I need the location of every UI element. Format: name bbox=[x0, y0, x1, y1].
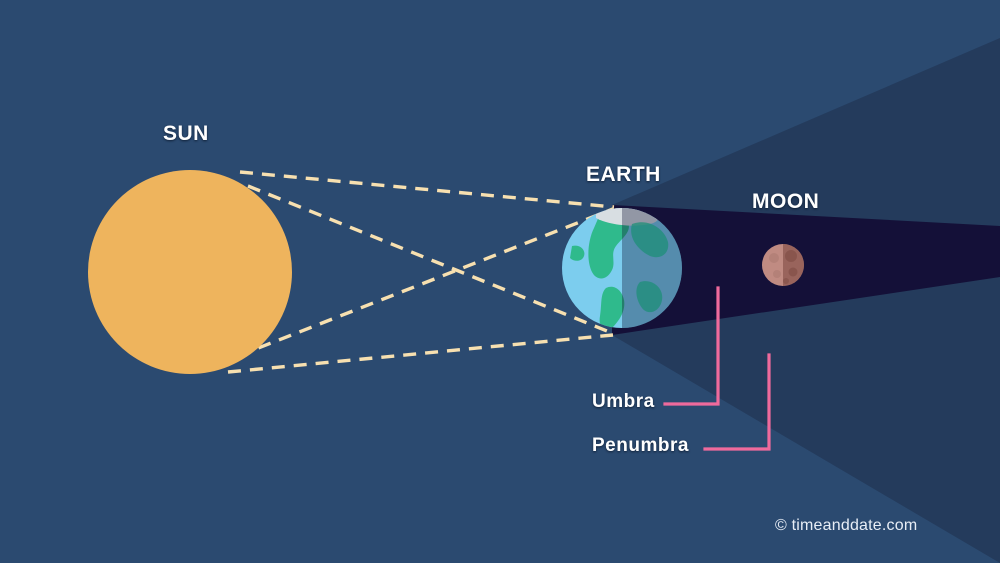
moon-label: MOON bbox=[752, 190, 819, 214]
umbra-label: Umbra bbox=[592, 391, 655, 413]
sun-body bbox=[88, 170, 292, 374]
earth-label: EARTH bbox=[586, 163, 661, 187]
lunar-eclipse-diagram: SUN EARTH MOON Umbra Penumbra © timeandd… bbox=[0, 0, 1000, 563]
penumbra-label: Penumbra bbox=[592, 435, 689, 457]
sun-label: SUN bbox=[163, 122, 209, 146]
diagram-canvas bbox=[0, 0, 1000, 563]
credit-text: © timeanddate.com bbox=[775, 517, 917, 535]
